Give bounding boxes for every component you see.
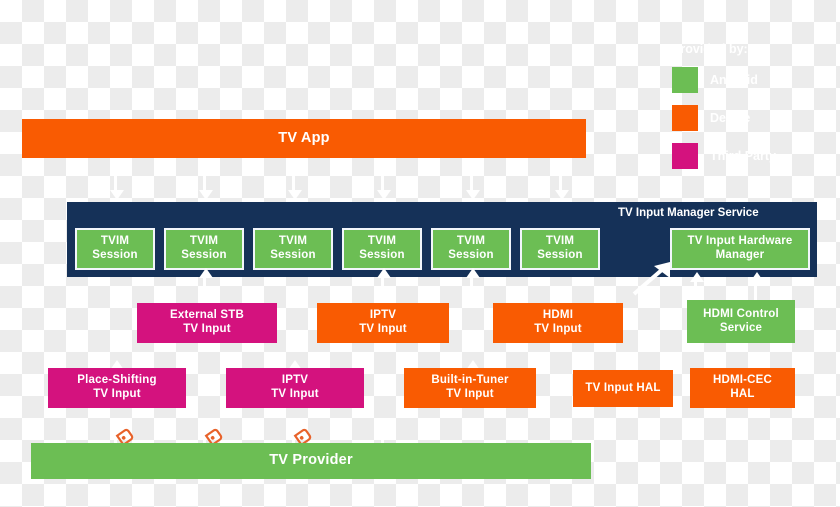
diagram-canvas: Provided by: Android Device Third Party … [0,0,840,507]
tv-input-hardware-manager: TV Input Hardware Manager [670,228,810,270]
arrow-head-provider-extra [377,428,391,438]
external-stb-tv-input: External STB TV Input [137,303,277,343]
legend-label-device: Device [710,111,750,125]
tvim-session-6: TVIM Session [520,228,600,270]
tv-input-manager-service-label: TV Input Manager Service [618,204,808,222]
legend-swatch-device [672,105,698,131]
legend-item-third-party: Third Party [672,141,832,171]
iptv-tv-input-row4: IPTV TV Input [226,368,364,408]
legend-swatch-android [672,67,698,93]
arrow-shaft-app-s3 [292,160,295,192]
iptv-tv-input-row3: IPTV TV Input [317,303,449,343]
place-shifting-tv-input: Place-Shifting TV Input [48,368,186,408]
tvim-session-3: TVIM Session [253,228,333,270]
legend-item-android: Android [672,65,832,95]
tag-icon-1 [115,423,137,445]
built-in-tuner-tv-input: Built-in-Tuner TV Input [404,368,536,408]
arrow-head-iptv-panel [377,268,391,278]
tv-app-block: TV App [22,119,586,158]
tv-provider-block: TV Provider [31,443,591,479]
arrow-head-app-s4 [377,190,391,200]
arrow-shaft-app-s1 [114,160,117,192]
hdmi-tv-input: HDMI TV Input [493,303,623,343]
arrow-shaft-app-s4 [381,160,384,192]
legend-swatch-third-party [672,143,698,169]
arrow-head-app-s3 [288,190,302,200]
tag-icon-3 [293,423,315,445]
arrow-shaft-iptv-panel [381,277,384,302]
hdmi-control-service: HDMI Control Service [687,300,795,343]
arrow-head-extstb-panel [199,268,213,278]
arrow-head-app-s6 [555,190,569,200]
tvim-session-2: TVIM Session [164,228,244,270]
hdmi-cec-hal: HDMI-CEC HAL [690,368,795,408]
arrow-shaft-app-s6 [559,160,562,192]
arrow-shaft-app-s5 [470,160,473,192]
arrow-head-hal-hwm [690,272,704,282]
arrow-shaft-app-s2 [203,160,206,192]
arrow-diagonal-hal-to-hardware-manager [630,258,690,298]
legend: Provided by: Android Device Third Party [672,42,832,179]
tag-icon-2 [204,423,226,445]
arrow-shaft-hdmi-panel [470,277,473,302]
arrow-shaft-extstb-panel [203,277,206,302]
arrow-head-cec-hwm [750,272,764,282]
tvim-session-1: TVIM Session [75,228,155,270]
arrow-head-hdmi-panel [466,268,480,278]
legend-title: Provided by: [672,42,832,56]
arrow-head-app-s2 [199,190,213,200]
tv-input-hal: TV Input HAL [573,370,673,407]
tvim-session-5: TVIM Session [431,228,511,270]
arrow-head-app-s5 [466,190,480,200]
legend-label-third-party: Third Party [710,149,776,163]
legend-label-android: Android [710,73,758,87]
legend-item-device: Device [672,103,832,133]
arrow-head-app-s1 [110,190,124,200]
tvim-session-4: TVIM Session [342,228,422,270]
